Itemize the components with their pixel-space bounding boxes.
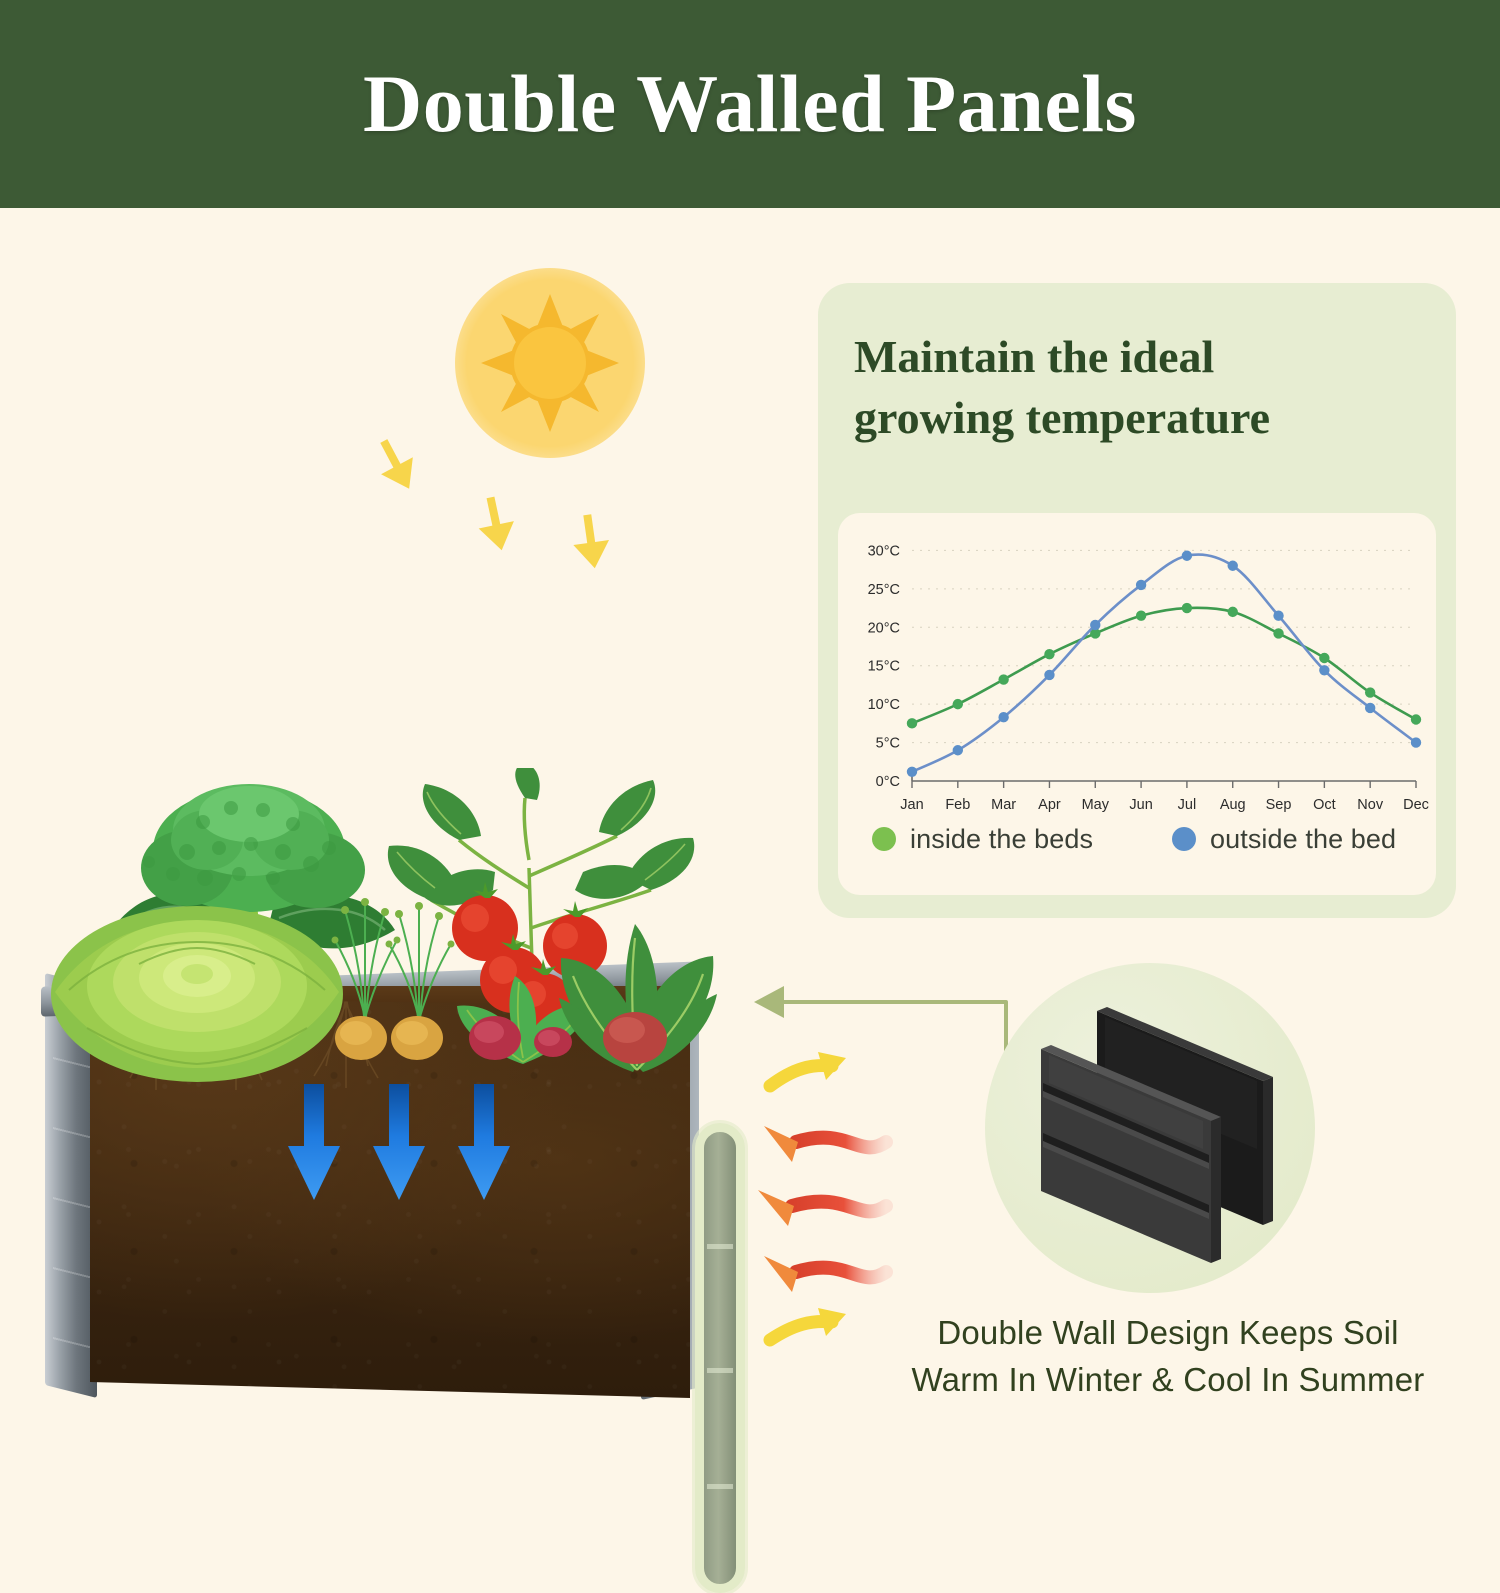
legend-label-outside: outside the bed — [1210, 824, 1396, 855]
y-axis-tick-label: 5°C — [876, 736, 900, 752]
chart-data-point — [998, 674, 1008, 684]
x-axis-tick-label: Mar — [991, 797, 1016, 813]
legend-dot-inside — [872, 827, 896, 851]
x-axis-tick-label: Nov — [1357, 797, 1384, 813]
chart-data-point — [1319, 653, 1329, 663]
chart-data-point — [1182, 603, 1192, 613]
chart-data-point — [1273, 628, 1283, 638]
legend-label-inside: inside the beds — [910, 824, 1093, 855]
sunlight-arrow-icon — [470, 490, 540, 560]
heat-arrow-icon — [764, 1126, 886, 1162]
temperature-chart-card: Maintain the ideal growing temperature 0… — [818, 283, 1456, 918]
chart-heading: Maintain the ideal growing temperature — [854, 327, 1414, 448]
chart-data-point — [1228, 607, 1238, 617]
panel-caption: Double Wall Design Keeps Soil Warm In Wi… — [848, 1310, 1488, 1404]
chart-data-point — [1319, 665, 1329, 675]
drainage-arrow-icon — [456, 1084, 512, 1204]
drainage-arrow-icon — [286, 1084, 342, 1204]
chart-series-line — [912, 555, 1416, 772]
x-axis-tick-label: Dec — [1403, 797, 1429, 813]
y-axis-tick-label: 30°C — [868, 543, 900, 559]
root-vegetable-beet — [585, 1010, 685, 1074]
x-axis-tick-label: Aug — [1220, 797, 1246, 813]
x-axis-tick-label: May — [1082, 797, 1110, 813]
chart-legend: inside the beds outside the bed — [872, 816, 1432, 862]
legend-item-outside: outside the bed — [1172, 824, 1396, 855]
chart-data-point — [953, 699, 963, 709]
chart-data-point — [1228, 561, 1238, 571]
y-axis-tick-label: 15°C — [868, 659, 900, 675]
plant-lettuce — [47, 886, 347, 1086]
chart-heading-line1: Maintain the ideal — [854, 331, 1214, 382]
chart-data-point — [1044, 670, 1054, 680]
sun-icon — [455, 268, 645, 458]
y-axis-tick-label: 10°C — [868, 697, 900, 713]
chart-series-line — [912, 608, 1416, 724]
sunlight-arrow-icon — [370, 430, 440, 500]
chart-heading-line2: growing temperature — [854, 392, 1270, 443]
chart-data-point — [953, 745, 963, 755]
x-axis-tick-label: Oct — [1313, 797, 1336, 813]
chart-data-point — [1090, 620, 1100, 630]
chart-data-point — [907, 767, 917, 777]
double-wall-panel-circle — [985, 963, 1315, 1293]
chart-plot-area: 0°C5°C10°C15°C20°C25°C30°CJanFebMarAprMa… — [838, 513, 1436, 895]
drainage-arrow-icon — [371, 1084, 427, 1204]
x-axis-tick-label: Jan — [900, 797, 923, 813]
y-axis-tick-label: 25°C — [868, 582, 900, 598]
sun-rays-icon — [473, 286, 627, 440]
y-axis-tick-label: 20°C — [868, 620, 900, 636]
chart-data-point — [1411, 714, 1421, 724]
chart-data-point — [1136, 611, 1146, 621]
chart-data-point — [1365, 703, 1375, 713]
y-axis-tick-label: 0°C — [876, 774, 900, 790]
chart-data-point — [1136, 580, 1146, 590]
x-axis-tick-label: Apr — [1038, 797, 1061, 813]
panel-caption-line2: Warm In Winter & Cool In Summer — [912, 1361, 1425, 1398]
x-axis-tick-label: Jul — [1178, 797, 1197, 813]
page-title: Double Walled Panels — [363, 63, 1137, 145]
double-wall-panel-icon — [985, 963, 1315, 1293]
raised-garden-bed — [45, 768, 715, 1408]
header-band: Double Walled Panels — [0, 0, 1500, 208]
chart-data-point — [907, 718, 917, 728]
heat-arrow-icon — [764, 1256, 886, 1292]
garden-bed-illustration — [0, 208, 790, 1500]
warm-air-arrow-icon — [770, 1052, 846, 1086]
chart-data-point — [1044, 649, 1054, 659]
x-axis-tick-label: Feb — [945, 797, 970, 813]
x-axis-tick-label: Sep — [1266, 797, 1292, 813]
panel-caption-line1: Double Wall Design Keeps Soil — [937, 1314, 1398, 1351]
sunlight-arrow-icon — [565, 508, 635, 578]
chart-data-point — [1182, 551, 1192, 561]
chart-data-point — [998, 712, 1008, 722]
legend-item-inside: inside the beds — [872, 824, 1172, 855]
chart-data-point — [1365, 687, 1375, 697]
x-axis-tick-label: Jun — [1129, 797, 1152, 813]
legend-dot-outside — [1172, 827, 1196, 851]
heat-arrow-icon — [758, 1190, 886, 1226]
chart-data-point — [1273, 611, 1283, 621]
warm-air-arrow-icon — [770, 1308, 846, 1340]
chart-data-point — [1411, 737, 1421, 747]
